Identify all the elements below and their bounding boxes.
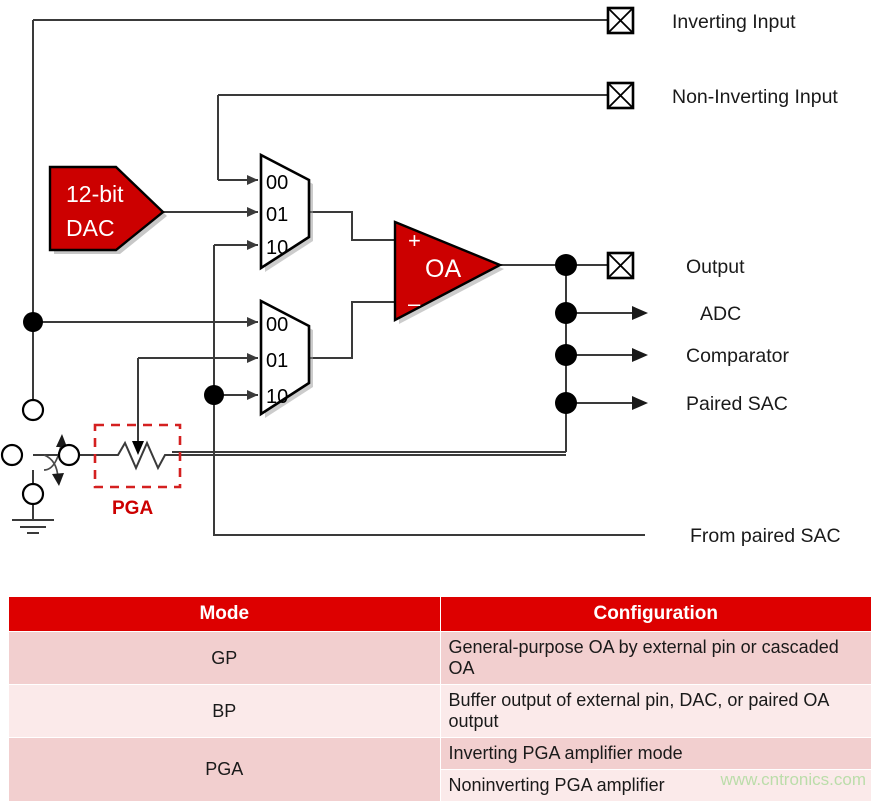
port-output-symbol[interactable]	[608, 253, 633, 278]
label-comparator: Comparator	[686, 345, 789, 367]
dac-label-line1: 12-bit	[66, 181, 124, 207]
label-adc: ADC	[700, 303, 741, 325]
cell-mode-bp: BP	[9, 685, 441, 738]
arrow-mux-bot-00	[247, 317, 258, 327]
cell-mode-gp: GP	[9, 632, 441, 685]
junction-dot-paired-sac	[555, 392, 577, 414]
column-header-mode: Mode	[9, 597, 441, 632]
arrow-mux-bot-10	[247, 390, 258, 400]
arrow-mux-bot-01	[247, 353, 258, 363]
port-noninverting-input-symbol[interactable]	[608, 83, 633, 108]
wire-muxbot-out-to-oa-minus	[310, 302, 396, 358]
arrow-adc	[632, 306, 648, 320]
switch-terminal-top[interactable]	[23, 400, 43, 420]
switch-pole-terminal[interactable]	[59, 445, 79, 465]
switch-common-terminal[interactable]	[2, 445, 22, 465]
pga-block-label: PGA	[112, 498, 153, 519]
arrow-paired-sac	[632, 396, 648, 410]
mux-bottom-input-00: 00	[266, 314, 288, 336]
switch-arrowhead-down	[52, 473, 64, 486]
arrow-mux-top-01	[247, 207, 258, 217]
switch-terminal-bottom[interactable]	[23, 484, 43, 504]
cell-mode-pga: PGA	[9, 738, 441, 802]
table-row: BP Buffer output of external pin, DAC, o…	[9, 685, 872, 738]
label-noninverting-input: Non-Inverting Input	[672, 86, 838, 108]
port-inverting-input-symbol[interactable]	[608, 8, 633, 33]
cell-config-pga-noninverting: Noninverting PGA amplifier	[440, 770, 872, 802]
block-diagram: 12-bit DAC 00 01 10 00 01 10 + – OA PGA …	[0, 0, 880, 590]
opamp-minus-sign: –	[408, 291, 421, 316]
junction-dot-sac-feedback	[204, 385, 224, 405]
arrow-mux-top-10	[247, 240, 258, 250]
cell-config-gp: General-purpose OA by external pin or ca…	[440, 632, 872, 685]
junction-dot-output	[555, 254, 577, 276]
column-header-configuration: Configuration	[440, 597, 872, 632]
dac-label-line2: DAC	[66, 215, 115, 241]
label-from-paired-sac: From paired SAC	[690, 525, 841, 547]
junction-dot-adc	[555, 302, 577, 324]
label-paired-sac: Paired SAC	[686, 393, 788, 415]
opamp-label: OA	[425, 255, 461, 283]
wire-muxtop-out-to-oa-plus	[310, 212, 396, 240]
mux-bottom-input-01: 01	[266, 350, 288, 372]
wire-from-paired-sac	[214, 395, 645, 535]
cell-config-pga-inverting: Inverting PGA amplifier mode	[440, 738, 872, 770]
mux-top-input-00: 00	[266, 172, 288, 194]
opamp-plus-sign: +	[408, 228, 421, 253]
cell-config-bp: Buffer output of external pin, DAC, or p…	[440, 685, 872, 738]
junction-dot-external-pin	[23, 312, 43, 332]
table-row: GP General-purpose OA by external pin or…	[9, 632, 872, 685]
label-output: Output	[686, 256, 745, 278]
diagram-page: 12-bit DAC 00 01 10 00 01 10 + – OA PGA …	[0, 0, 880, 796]
modes-table: Mode Configuration GP General-purpose OA…	[8, 596, 872, 802]
table-header-row: Mode Configuration	[9, 597, 872, 632]
arrow-mux-top-00	[247, 175, 258, 185]
mux-top-input-01: 01	[266, 204, 288, 226]
mux-top-input-10: 10	[266, 237, 288, 259]
junction-dot-comparator	[555, 344, 577, 366]
table-row: PGA Inverting PGA amplifier mode	[9, 738, 872, 770]
mux-bottom-input-10: 10	[266, 386, 288, 408]
arrow-comparator	[632, 348, 648, 362]
label-inverting-input: Inverting Input	[672, 11, 796, 33]
